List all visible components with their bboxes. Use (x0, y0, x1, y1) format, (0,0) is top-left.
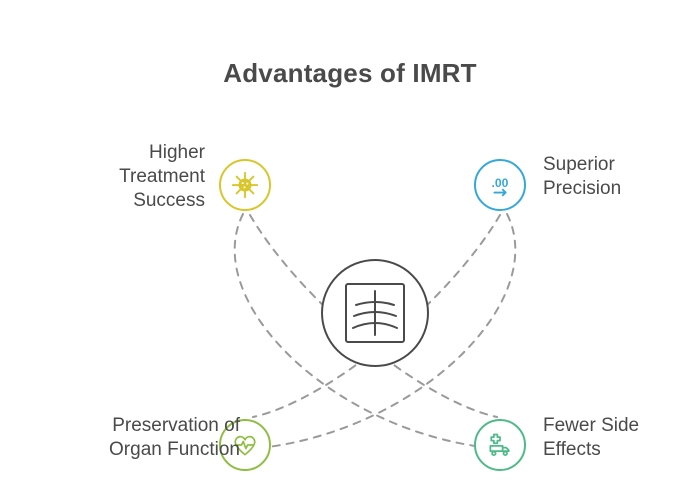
node-higher-treatment-success[interactable] (219, 159, 271, 211)
label-superior-precision: Superior Precision (543, 153, 700, 201)
virus-icon (230, 170, 260, 200)
label-preservation-of-organ-function: Preservation of Organ Function (0, 414, 240, 462)
label-fewer-side-effects: Fewer Side Effects (543, 414, 700, 462)
center-emblem (320, 258, 430, 368)
label-higher-treatment-success: Higher Treatment Success (15, 141, 205, 213)
node-fewer-side-effects[interactable] (474, 419, 526, 471)
decimal-precision-icon: .00 (485, 170, 515, 200)
ambulance-icon (486, 431, 514, 459)
infographic-canvas: Advantages of IMRT (0, 0, 700, 500)
svg-text:.00: .00 (492, 176, 509, 190)
node-superior-precision[interactable]: .00 (474, 159, 526, 211)
